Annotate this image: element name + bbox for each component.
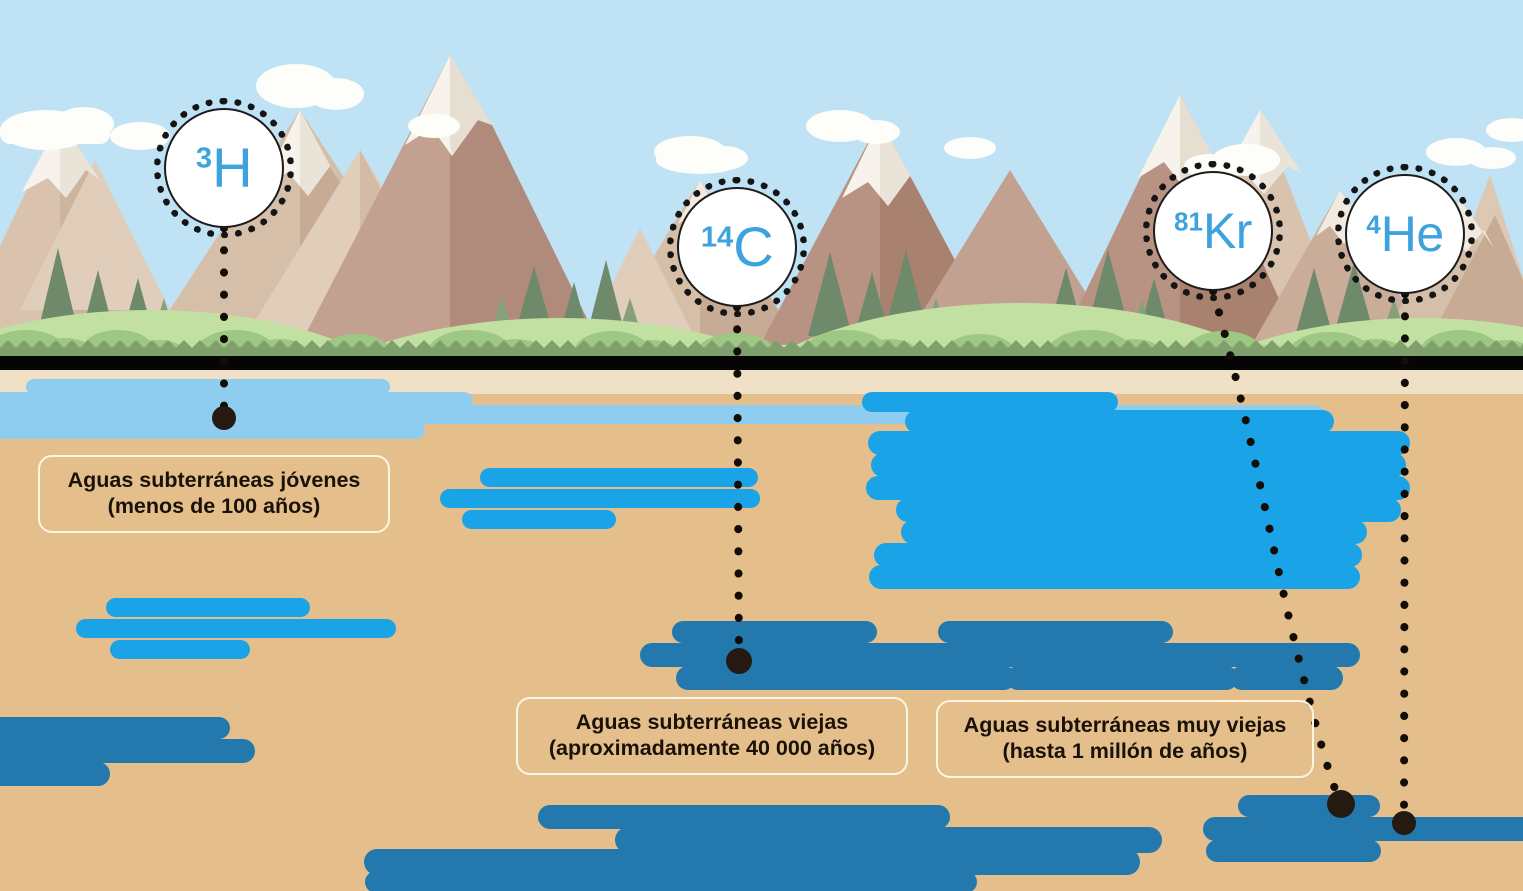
isotope-symbol-krypton-81: Kr	[1203, 203, 1252, 259]
isotope-mass-carbon-14: 14	[701, 221, 733, 253]
callout-very-old-line1: Aguas subterráneas muy viejas	[958, 712, 1292, 738]
callout-young-groundwater: Aguas subterráneas jóvenes (menos de 100…	[38, 455, 390, 533]
groundwater-dating-infographic: 3H 14C 81Kr 4He Aguas subterráneas jóven…	[0, 0, 1523, 891]
isotope-mass-krypton-81: 81	[1174, 206, 1203, 236]
isotope-symbol-carbon-14: C	[733, 215, 773, 278]
callout-very-old-line2: (hasta 1 millón de años)	[958, 738, 1292, 764]
isotope-bubble-tritium[interactable]: 3H	[164, 108, 284, 228]
isotope-label-helium-4: 4He	[1366, 209, 1443, 259]
helium4-probe-endpoint	[1392, 811, 1416, 835]
isotope-bubble-carbon-14[interactable]: 14C	[677, 187, 797, 307]
callout-very-old-groundwater: Aguas subterráneas muy viejas (hasta 1 m…	[936, 700, 1314, 778]
isotope-bubble-krypton-81[interactable]: 81Kr	[1153, 171, 1273, 291]
carbon14-probe-path	[737, 307, 739, 660]
isotope-label-tritium: 3H	[196, 140, 252, 196]
isotope-symbol-tritium: H	[212, 136, 252, 199]
callout-old-groundwater: Aguas subterráneas viejas (aproximadamen…	[516, 697, 908, 775]
callout-old-line1: Aguas subterráneas viejas	[538, 709, 886, 735]
krypton81-probe-endpoint	[1327, 790, 1355, 818]
carbon14-probe-endpoint	[726, 648, 752, 674]
callout-young-line1: Aguas subterráneas jóvenes	[60, 467, 368, 493]
isotope-mass-tritium: 3	[196, 142, 212, 174]
isotope-bubble-helium-4[interactable]: 4He	[1345, 174, 1465, 294]
isotope-label-carbon-14: 14C	[701, 219, 773, 275]
callout-old-line2: (aproximadamente 40 000 años)	[538, 735, 886, 761]
isotope-symbol-helium-4: He	[1381, 206, 1444, 262]
isotope-label-krypton-81: 81Kr	[1174, 206, 1252, 256]
helium4-probe-path	[1404, 294, 1405, 822]
callout-young-line2: (menos de 100 años)	[60, 493, 368, 519]
tritium-probe-endpoint	[212, 406, 236, 430]
isotope-mass-helium-4: 4	[1366, 209, 1380, 239]
